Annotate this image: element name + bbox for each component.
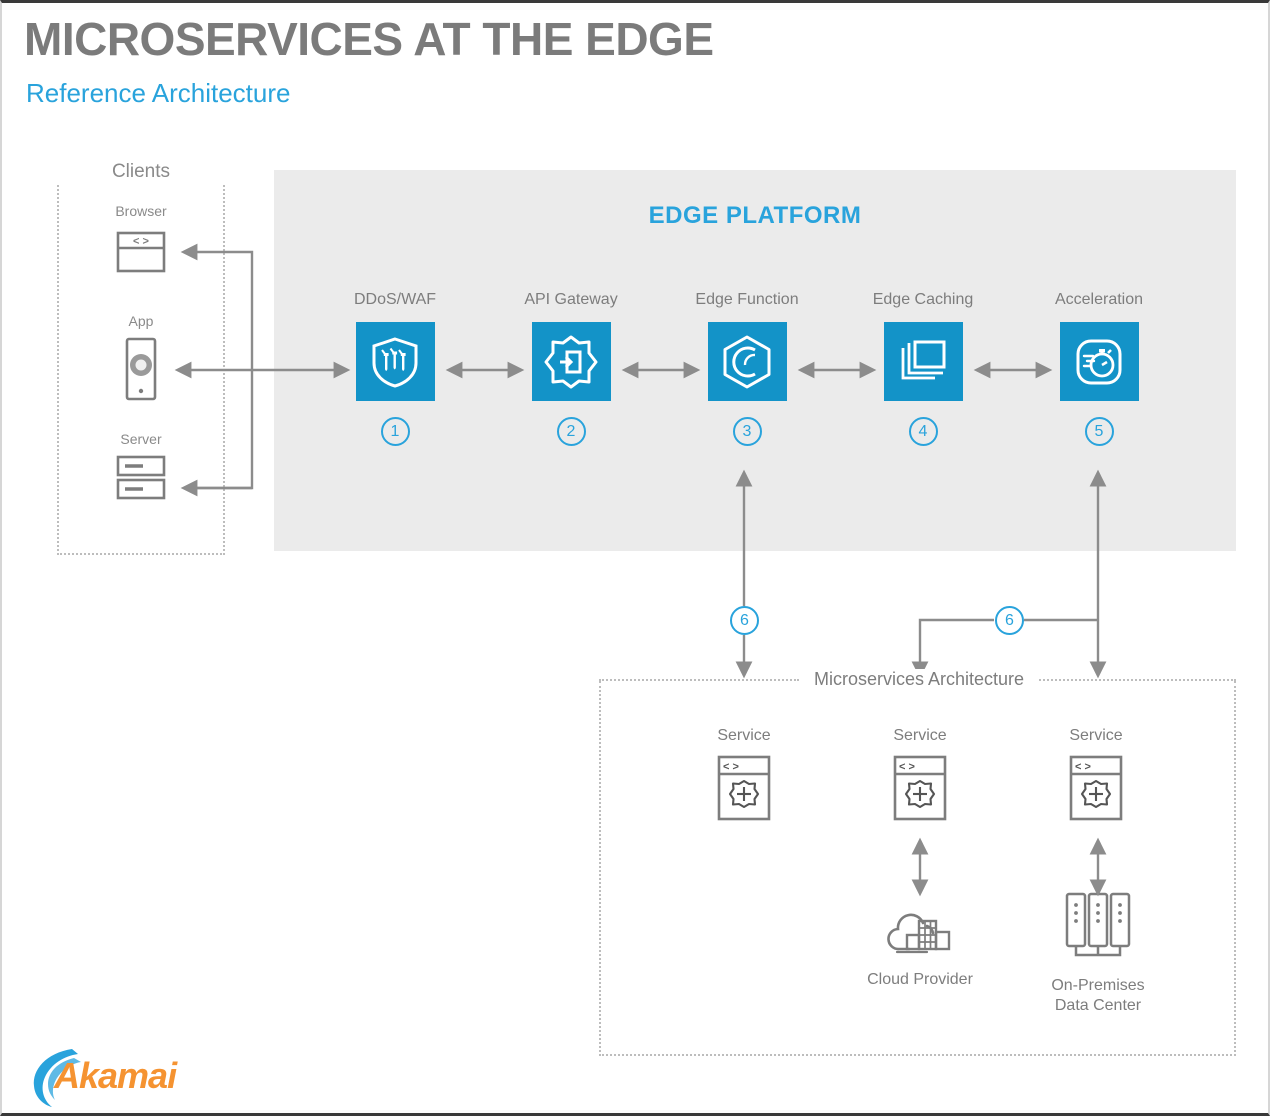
browser-window-icon: < > xyxy=(115,226,167,283)
service-window-icon: < > xyxy=(1067,810,1125,827)
client-browser-label: Browser xyxy=(57,203,225,219)
edge-node-ddos-waf[interactable]: DDoS/WAF 1 xyxy=(320,291,470,446)
service-window-icon: < > xyxy=(715,810,773,827)
microservice-3-label: Service xyxy=(1026,727,1166,745)
edge-node-ddos-waf-label: DDoS/WAF xyxy=(320,291,470,309)
backend-cloud-provider[interactable]: Cloud Provider xyxy=(840,901,1000,990)
edge-node-api-gateway-badge: 2 xyxy=(557,417,586,446)
edge-node-acceleration-badge: 5 xyxy=(1085,417,1114,446)
client-server[interactable]: Server xyxy=(57,431,225,507)
cloud-building-icon xyxy=(883,944,957,961)
edge-node-acceleration-label: Acceleration xyxy=(1024,291,1174,309)
edge-node-api-gateway-label: API Gateway xyxy=(496,291,646,309)
akamai-logo-text: Akamai xyxy=(54,1055,176,1097)
backend-on-premises-data-center[interactable]: On-Premises Data Center xyxy=(1018,891,1178,1016)
connector-badge-caching-acceleration: 6 xyxy=(995,606,1024,635)
microservice-3[interactable]: Service < > xyxy=(1026,727,1166,828)
page-title: MICROSERVICES AT THE EDGE xyxy=(24,15,714,63)
diagram-page: MICROSERVICES AT THE EDGE Reference Arch… xyxy=(0,0,1270,1116)
hexagon-swoosh-icon xyxy=(708,322,787,401)
svg-text:< >: < > xyxy=(1075,761,1091,773)
svg-text:< >: < > xyxy=(899,761,915,773)
server-rack-icon xyxy=(115,454,167,507)
page-subtitle: Reference Architecture xyxy=(26,79,290,108)
shield-bombs-icon xyxy=(356,322,435,401)
backend-dc-line1: On-Premises xyxy=(1051,977,1144,994)
edge-node-edge-caching-badge: 4 xyxy=(909,417,938,446)
edge-node-edge-function-badge: 3 xyxy=(733,417,762,446)
edge-node-edge-caching[interactable]: Edge Caching 4 xyxy=(848,291,998,446)
microservices-group-label: Microservices Architecture xyxy=(799,669,1039,690)
microservice-2-label: Service xyxy=(850,727,990,745)
backend-cloud-provider-label: Cloud Provider xyxy=(840,970,1000,990)
client-app-label: App xyxy=(57,313,225,329)
edge-node-edge-function[interactable]: Edge Function 3 xyxy=(672,291,822,446)
microservice-1[interactable]: Service < > xyxy=(674,727,814,828)
api-gateway-icon xyxy=(532,322,611,401)
backend-on-premises-data-center-label: On-Premises Data Center xyxy=(1018,976,1178,1016)
edge-node-api-gateway[interactable]: API Gateway 2 xyxy=(496,291,646,446)
edge-node-ddos-waf-badge: 1 xyxy=(381,417,410,446)
svg-text:< >: < > xyxy=(723,761,739,773)
service-window-icon: < > xyxy=(891,810,949,827)
microservice-2[interactable]: Service < > xyxy=(850,727,990,828)
edge-platform-title: EDGE PLATFORM xyxy=(274,202,1236,230)
mobile-phone-icon xyxy=(122,336,160,407)
clients-group-label: Clients xyxy=(57,161,225,183)
client-browser[interactable]: Browser < > xyxy=(57,203,225,283)
server-racks-icon xyxy=(1057,950,1139,967)
client-server-label: Server xyxy=(57,431,225,447)
backend-dc-line2: Data Center xyxy=(1055,997,1141,1014)
client-app[interactable]: App xyxy=(57,313,225,407)
stopwatch-icon xyxy=(1060,322,1139,401)
stacked-screens-icon xyxy=(884,322,963,401)
edge-node-edge-function-label: Edge Function xyxy=(672,291,822,309)
edge-node-edge-caching-label: Edge Caching xyxy=(848,291,998,309)
connector-badge-edge-function: 6 xyxy=(730,606,759,635)
microservice-1-label: Service xyxy=(674,727,814,745)
svg-text:< >: < > xyxy=(133,236,149,248)
edge-node-acceleration[interactable]: Acceleration 5 xyxy=(1024,291,1174,446)
